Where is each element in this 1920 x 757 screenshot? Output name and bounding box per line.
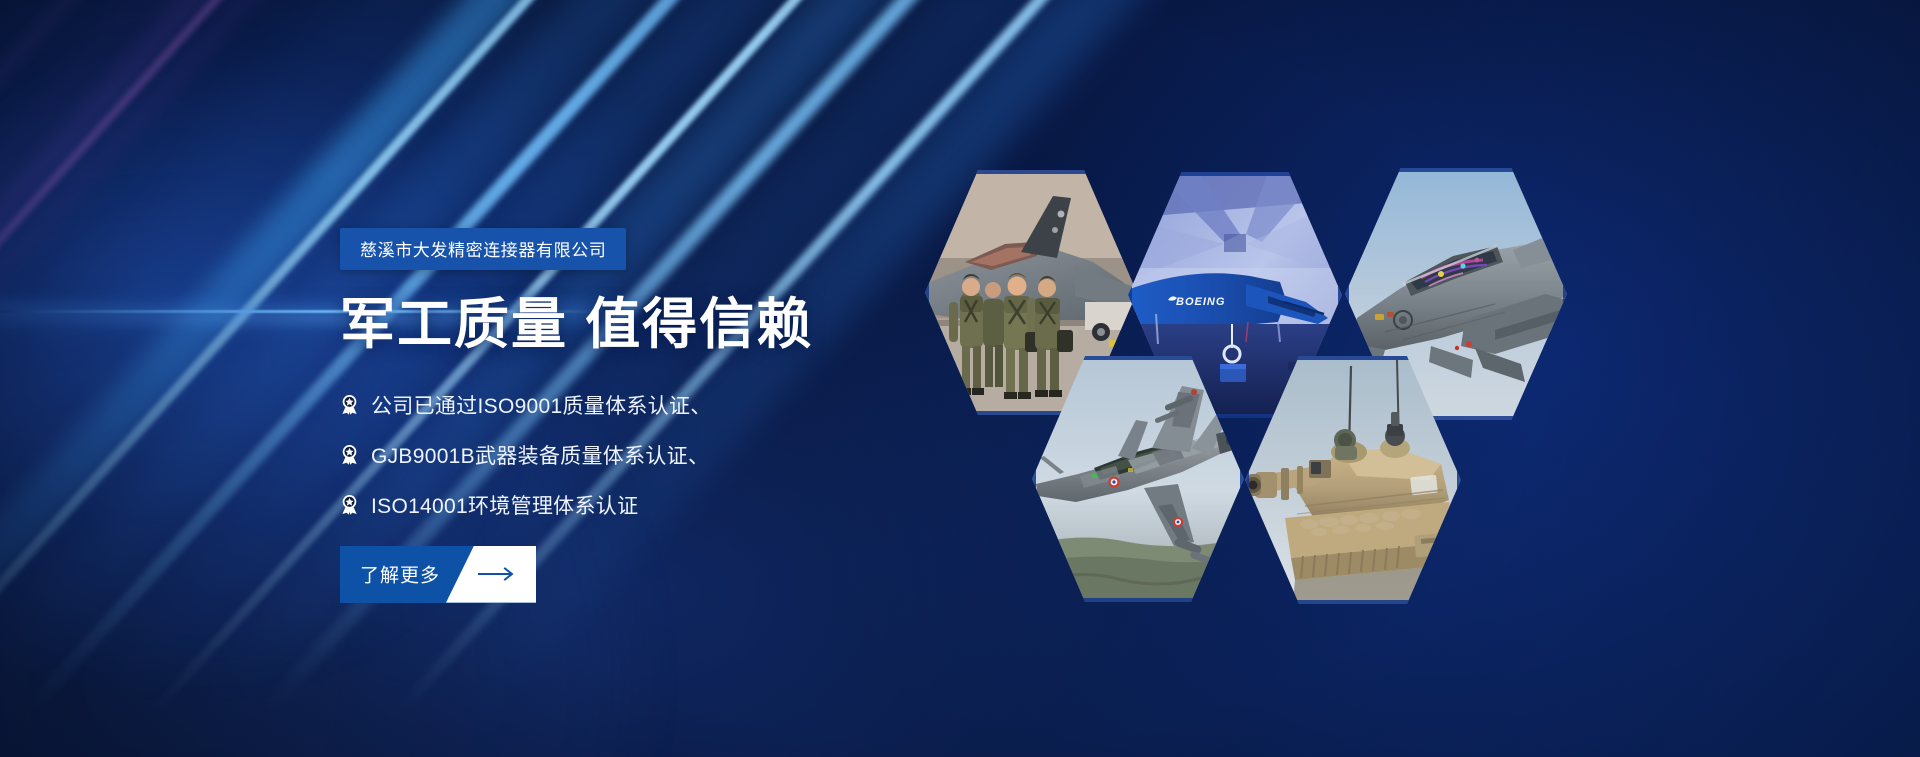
page-title: 军工质量 值得信赖 — [340, 294, 1100, 356]
medal-icon — [340, 494, 359, 515]
certification-list: 公司已通过ISO9001质量体系认证、 GJB9001B武器装备质量体系认证、 — [340, 390, 1100, 520]
list-item: 公司已通过ISO9001质量体系认证、 — [340, 390, 1100, 420]
list-item-label: 公司已通过ISO9001质量体系认证、 — [371, 390, 712, 420]
list-item: GJB9001B武器装备质量体系认证、 — [340, 440, 1100, 470]
svg-text:BOEING: BOEING — [1176, 296, 1225, 308]
company-name-badge: 慈溪市大发精密连接器有限公司 — [340, 228, 626, 270]
medal-icon — [340, 444, 359, 465]
medal-icon — [340, 394, 359, 415]
list-item-label: ISO14001环境管理体系认证 — [371, 490, 638, 520]
hero-content: 慈溪市大发精密连接器有限公司 军工质量 值得信赖 公司已通过ISO9001质量体… — [340, 228, 1100, 603]
learn-more-button[interactable]: 了解更多 — [340, 546, 536, 603]
hero-banner: BOEING — [0, 0, 1920, 757]
list-item-label: GJB9001B武器装备质量体系认证、 — [371, 440, 709, 470]
learn-more-label: 了解更多 — [360, 561, 440, 588]
arrow-right-icon — [478, 567, 518, 581]
list-item: ISO14001环境管理体系认证 — [340, 490, 1100, 520]
